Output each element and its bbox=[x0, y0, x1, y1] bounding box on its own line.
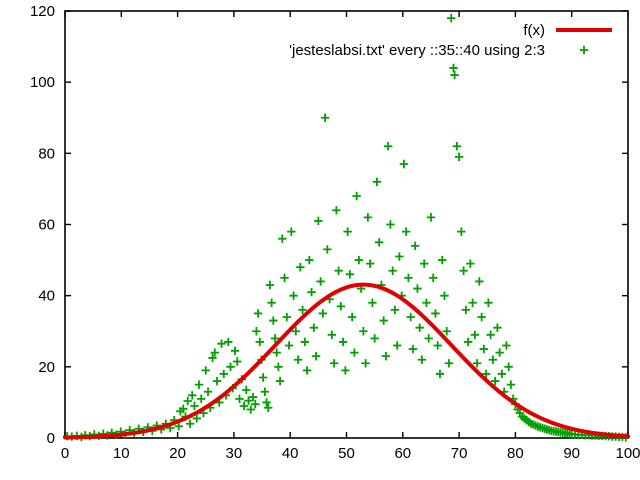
x-tick-label-60: 60 bbox=[394, 445, 411, 462]
y-tick-label-120: 120 bbox=[30, 3, 55, 20]
y-tick-label-40: 40 bbox=[38, 288, 55, 305]
x-tick-label-10: 10 bbox=[113, 445, 130, 462]
gnuplot-canvas: 0102030405060708090100020406080100120f(x… bbox=[0, 0, 640, 480]
x-tick-label-30: 30 bbox=[226, 445, 243, 462]
y-tick-label-20: 20 bbox=[38, 359, 55, 376]
y-tick-label-100: 100 bbox=[30, 74, 55, 91]
y-tick-label-0: 0 bbox=[47, 430, 55, 447]
x-tick-label-0: 0 bbox=[61, 445, 69, 462]
plot-border bbox=[65, 11, 628, 438]
legend-label-1: 'jesteslabsi.txt' every ::35::40 using 2… bbox=[289, 42, 545, 59]
x-tick-label-50: 50 bbox=[338, 445, 355, 462]
legend-label-0: f(x) bbox=[523, 22, 545, 39]
x-tick-label-90: 90 bbox=[563, 445, 580, 462]
x-tick-label-20: 20 bbox=[169, 445, 186, 462]
x-tick-label-80: 80 bbox=[507, 445, 524, 462]
x-tick-label-70: 70 bbox=[451, 445, 468, 462]
y-tick-label-80: 80 bbox=[38, 145, 55, 162]
x-tick-label-100: 100 bbox=[615, 445, 640, 462]
chart-plot-area: 0102030405060708090100020406080100120f(x… bbox=[0, 0, 640, 480]
x-tick-label-40: 40 bbox=[282, 445, 299, 462]
y-tick-label-60: 60 bbox=[38, 217, 55, 234]
